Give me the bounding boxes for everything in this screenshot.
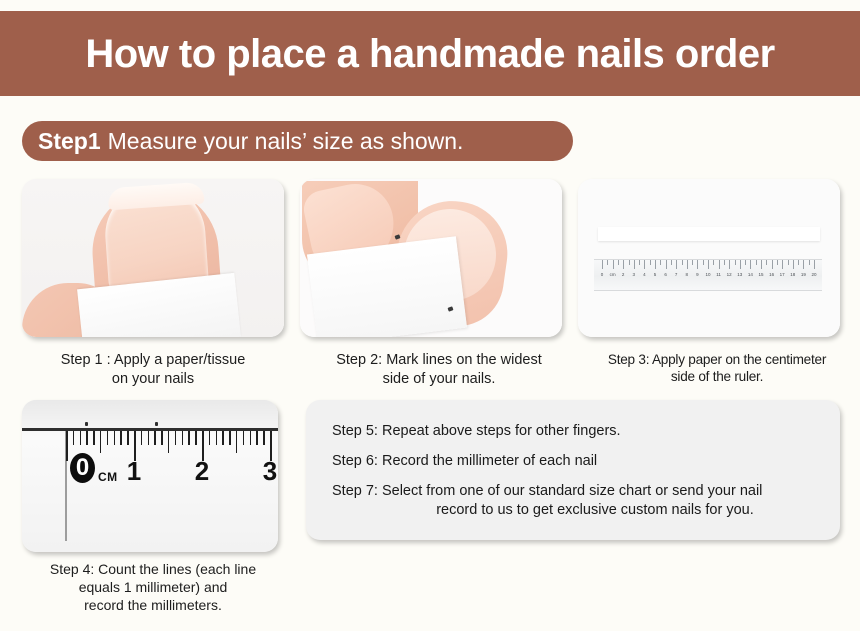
caption-step-1: Step 1 : Apply a paper/tissue on your na…	[10, 351, 296, 388]
ruler-tick	[629, 260, 630, 265]
ruler-cm-label: 3	[263, 458, 277, 484]
ruler-number: 5	[654, 272, 657, 277]
ruler-tick	[793, 260, 794, 269]
ruler-number: 8	[686, 272, 689, 277]
ruler-mm-tick	[209, 431, 210, 445]
caption-line: equals 1 millimeter) and	[8, 579, 298, 597]
ruler-top-band	[22, 400, 278, 428]
ruler-mm-tick	[66, 431, 68, 461]
photo-apply-paper	[22, 179, 284, 337]
ruler-mm-tick	[195, 431, 196, 445]
ruler-tick	[687, 260, 688, 269]
ruler-number: 3	[633, 272, 636, 277]
caption-line: Step 1 : Apply a paper/tissue	[10, 351, 296, 370]
ruler-tick	[623, 260, 624, 269]
ruler-mm-tick	[229, 431, 230, 445]
steps-list: Step 5: Repeat above steps for other fin…	[332, 422, 824, 519]
ruler-mm-tick	[243, 431, 244, 445]
photo-card-apply-paper	[22, 179, 284, 337]
ruler-mm-tick	[188, 431, 189, 445]
ruler-mm-tick	[250, 431, 251, 445]
photo-card-count-lines: 0 CM 123	[22, 400, 278, 552]
ruler-number: 11	[716, 272, 721, 277]
ruler-tick	[644, 260, 645, 269]
ruler-mm-tick	[168, 431, 169, 453]
ruler-number: 15	[758, 272, 763, 277]
step1-label: Step1	[38, 130, 101, 153]
ruler-mm-tick	[263, 431, 264, 445]
step-7-line-1: Step 7: Select from one of our standard …	[332, 483, 762, 499]
paper-strip-shape	[598, 227, 820, 241]
ruler-tick	[740, 260, 741, 269]
ruler-tick	[798, 260, 799, 265]
step-line-7: Step 7: Select from one of our standard …	[332, 482, 824, 520]
ruler-mm-tick	[127, 431, 128, 445]
page-title: How to place a handmade nails order	[85, 34, 774, 74]
ruler-tick	[708, 260, 709, 269]
ruler-number: 14	[748, 272, 753, 277]
ruler-number: 7	[675, 272, 678, 277]
ruler-number: 0	[601, 272, 604, 277]
ruler-tick	[618, 260, 619, 265]
ruler-mm-tick	[222, 431, 223, 445]
ruler-mm-tick	[93, 431, 94, 445]
ruler-mm-tick	[80, 431, 81, 445]
ruler-number: 4	[643, 272, 646, 277]
ruler-mm-tick	[86, 431, 87, 445]
ruler-tick	[729, 260, 730, 269]
ruler-mm-tick	[120, 431, 121, 445]
ruler-tick	[660, 260, 661, 265]
ruler-tick	[650, 260, 651, 265]
ruler-tick	[766, 260, 767, 265]
ruler-tick	[713, 260, 714, 265]
caption-line: Step 3: Apply paper on the centimeter	[574, 351, 860, 368]
ruler-tick	[750, 260, 751, 269]
ruler-number: 13	[737, 272, 742, 277]
ruler-number: 2	[622, 272, 625, 277]
ruler-number: 12	[727, 272, 732, 277]
ruler-mm-tick	[256, 431, 257, 445]
ruler-cm-label: 2	[195, 458, 209, 484]
step1-badge: Step1 Measure your nails’ size as shown.	[22, 121, 573, 161]
ruler-mm-tick	[236, 431, 237, 453]
caption-line: Step 4: Count the lines (each line	[8, 561, 298, 579]
ruler-tick	[803, 260, 804, 269]
ruler-tick	[634, 260, 635, 269]
ruler-hole-right	[155, 422, 158, 426]
ruler-number: 19	[801, 272, 806, 277]
ruler-number: 9	[696, 272, 699, 277]
ruler-mm-tick	[154, 431, 155, 445]
ruler-hole-left	[85, 422, 88, 426]
photo-mark-lines	[300, 179, 562, 337]
ruler-mm-tick	[175, 431, 176, 445]
ruler-tick	[607, 260, 608, 265]
ruler-tick	[719, 260, 720, 269]
ruler-tick	[671, 260, 672, 265]
ruler-tick	[682, 260, 683, 265]
ruler-mm-tick	[161, 431, 162, 445]
steps-text-card: Step 5: Repeat above steps for other fin…	[306, 400, 840, 540]
ruler-number: 10	[705, 272, 710, 277]
ruler-tick	[809, 260, 810, 265]
inline-ruler: 0cm234567891011121314151617181920	[594, 259, 822, 291]
ruler-cm-labels: 123	[22, 458, 278, 494]
ruler-tick	[782, 260, 783, 269]
ruler-tick	[602, 260, 603, 269]
photo-card-mark-lines	[300, 179, 562, 337]
caption-step-3: Step 3: Apply paper on the centimeter si…	[574, 351, 860, 386]
step1-description: Measure your nails’ size as shown.	[108, 130, 464, 153]
photo-background	[578, 179, 840, 337]
inline-ruler-ticks	[594, 260, 822, 271]
step-7-line-2: record to us to get exclusive custom nai…	[332, 501, 824, 520]
caption-line: Step 2: Mark lines on the widest	[296, 351, 582, 370]
photo-card-apply-on-ruler: 0cm234567891011121314151617181920	[578, 179, 840, 337]
ruler-number: 20	[811, 272, 816, 277]
ruler-tick	[756, 260, 757, 265]
ruler-tick	[639, 260, 640, 265]
inline-ruler-numbers: 0cm234567891011121314151617181920	[594, 272, 822, 282]
ruler-tick	[814, 260, 815, 269]
ruler-number: 6	[664, 272, 667, 277]
header-banner: How to place a handmade nails order	[0, 11, 860, 96]
ruler-closeup: 0 CM 123	[22, 400, 278, 552]
ruler-tick	[772, 260, 773, 269]
caption-step-2: Step 2: Mark lines on the widest side of…	[296, 351, 582, 388]
ruler-tick	[735, 260, 736, 265]
caption-line: side of your nails.	[296, 370, 582, 389]
caption-step-4: Step 4: Count the lines (each line equal…	[8, 561, 298, 615]
ruler-tick	[745, 260, 746, 265]
ruler-tick	[724, 260, 725, 265]
ruler-tick	[777, 260, 778, 265]
ruler-number: 16	[769, 272, 774, 277]
ruler-number: 17	[780, 272, 785, 277]
ruler-number: 18	[790, 272, 795, 277]
ruler-mm-tick	[73, 431, 74, 445]
ruler-tick	[703, 260, 704, 265]
ruler-mm-tick	[141, 431, 142, 445]
ruler-tick	[655, 260, 656, 269]
photo-apply-on-ruler: 0cm234567891011121314151617181920	[578, 179, 840, 337]
step-line-6: Step 6: Record the millimeter of each na…	[332, 452, 824, 471]
ruler-tick	[676, 260, 677, 269]
caption-line: on your nails	[10, 370, 296, 389]
ruler-mm-tick	[182, 431, 183, 445]
ruler-mm-tick	[148, 431, 149, 445]
ruler-tick	[697, 260, 698, 269]
step-line-5: Step 5: Repeat above steps for other fin…	[332, 422, 824, 441]
paper-strip-shape	[307, 236, 467, 337]
ruler-tick	[788, 260, 789, 265]
caption-line: side of the ruler.	[574, 368, 860, 385]
ruler-tick	[613, 260, 614, 269]
ruler-tick	[666, 260, 667, 269]
ruler-tick	[692, 260, 693, 265]
ruler-mm-tick	[107, 431, 108, 445]
caption-line: record the millimeters.	[8, 597, 298, 615]
ruler-mm-tick	[114, 431, 115, 445]
ruler-mm-tick	[216, 431, 217, 445]
ruler-number: cm	[610, 272, 616, 277]
ruler-cm-label: 1	[127, 458, 141, 484]
ruler-tick	[761, 260, 762, 269]
ruler-mm-tick	[100, 431, 101, 453]
